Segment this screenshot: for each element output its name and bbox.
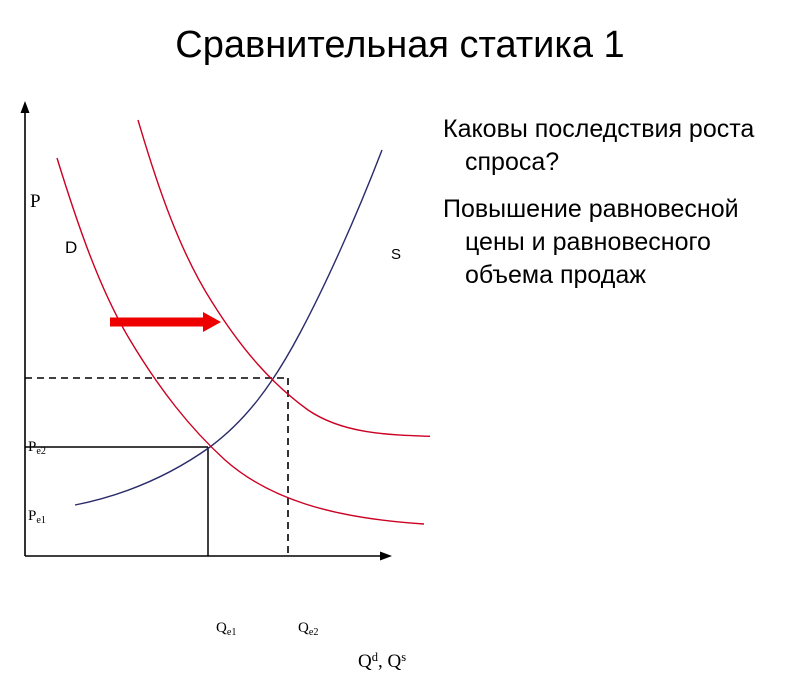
x-axis-label: Qd, Qs [358,651,406,673]
qty-e1-sub: e1 [227,627,237,638]
y-axis [21,101,30,556]
x-axis-label-sup-d: d [372,650,378,664]
body-paragraph-1: Каковы последствия роста спроса? [443,113,795,179]
demand-curve-original [57,158,424,524]
supply-curve-label: S [391,246,401,263]
qty-e2-sub: e2 [309,627,319,638]
arrowhead-icon [203,312,221,332]
demand-curve-label: D [65,238,77,258]
demand-shift-arrow [110,312,221,332]
body-paragraph-2: Повышение равновесной цены и равновесног… [443,193,795,292]
qty-e2-base: Q [298,620,309,636]
x-axis-label-comma: , Q [378,651,401,672]
page-title: Сравнительная статика 1 [0,22,800,68]
x-axis-label-sup-s: s [401,650,406,664]
quantity-equilibrium-2-label: Qe2 [298,620,318,637]
quantity-equilibrium-1-label: Qe1 [216,620,236,637]
price-e1-sub: e1 [36,515,46,526]
x-axis-label-q1: Q [358,651,372,672]
equilibrium-1-guides [25,447,208,556]
price-equilibrium-1-label: Pe1 [28,508,46,525]
slide-canvas: Сравнительная статика 1 [0,0,800,600]
qty-e1-base: Q [216,620,227,636]
demand-curve-shifted [138,120,430,438]
x-axis-arrowhead [380,552,392,561]
supply-demand-diagram: P Qd, Qs D S Pe2 Pe1 Qe1 Qe2 [0,90,430,600]
y-axis-label: P [30,191,41,213]
chart-svg [0,90,430,600]
body-text-block: Каковы последствия роста спроса? Повышен… [443,113,795,306]
equilibrium-2-guides [25,378,288,556]
y-axis-arrowhead [21,101,30,113]
price-equilibrium-2-label: Pe2 [28,439,46,456]
price-e2-sub: e2 [36,446,46,457]
